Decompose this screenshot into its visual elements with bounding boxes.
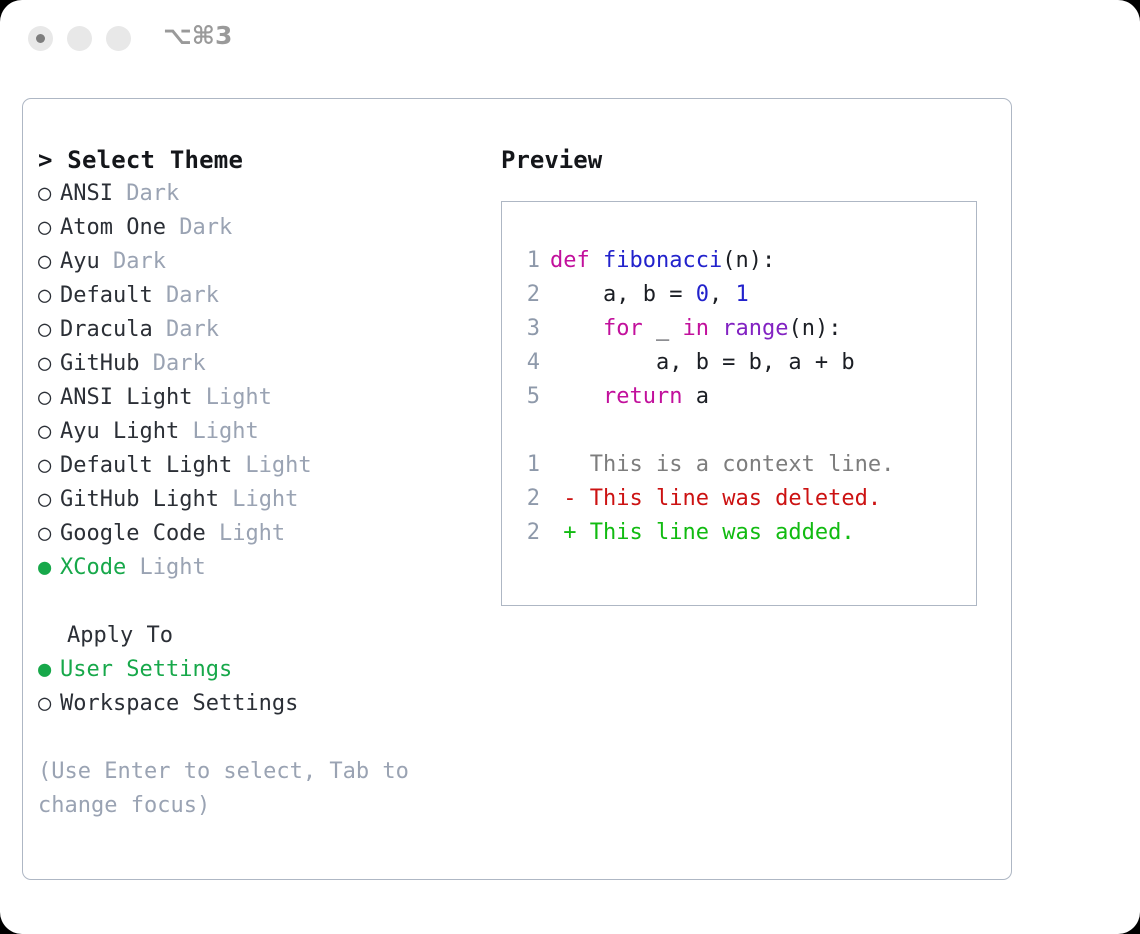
code-token: a xyxy=(682,384,709,409)
code-line: 3 for _ in range(n): xyxy=(516,312,894,346)
diff-marker: - xyxy=(550,486,590,511)
theme-option-label: Google Code xyxy=(60,517,206,551)
theme-option-label: Default Light xyxy=(60,449,232,483)
theme-variant-tag: Dark xyxy=(166,211,232,245)
diff-line-del: 2 - This line was deleted. xyxy=(516,482,894,516)
radio-unselected-icon: ○ xyxy=(38,211,60,245)
theme-variant-tag: Light xyxy=(126,551,205,585)
theme-option-github[interactable]: ○GitHub Dark xyxy=(38,347,488,381)
theme-option-label: GitHub Light xyxy=(60,483,219,517)
theme-option-label: Default xyxy=(60,279,153,313)
code-token xyxy=(550,316,603,341)
code-token: fibonacci xyxy=(603,248,722,273)
preview-column: Preview 1def fibonacci(n):2 a, b = 0, 13… xyxy=(501,143,991,606)
theme-variant-tag: Light xyxy=(232,449,311,483)
radio-unselected-icon: ○ xyxy=(38,279,60,313)
code-token: a, b = b, a + b xyxy=(550,350,855,375)
diff-marker: + xyxy=(550,520,590,545)
code-token xyxy=(550,384,603,409)
theme-variant-tag: Light xyxy=(219,483,298,517)
theme-variant-tag: Dark xyxy=(113,177,179,211)
line-number: 2 xyxy=(516,278,540,312)
radio-unselected-icon: ○ xyxy=(38,449,60,483)
line-number: 1 xyxy=(516,448,540,482)
theme-option-list: ○ANSI Dark○Atom One Dark○Ayu Dark○Defaul… xyxy=(38,177,488,585)
theme-option-label: Ayu Light xyxy=(60,415,179,449)
code-token: def xyxy=(550,248,603,273)
apply-to-option-label: Workspace Settings xyxy=(60,687,298,721)
maximize-window-dot-icon[interactable] xyxy=(106,26,131,51)
theme-option-github-light[interactable]: ○GitHub Light Light xyxy=(38,483,488,517)
code-token: 1 xyxy=(735,282,748,307)
radio-unselected-icon: ○ xyxy=(38,687,60,721)
diff-line-ctx: 1 This is a context line. xyxy=(516,448,894,482)
theme-variant-tag: Light xyxy=(192,381,271,415)
code-token: _ xyxy=(643,316,683,341)
apply-to-option-label: User Settings xyxy=(60,653,232,687)
preview-box: 1def fibonacci(n):2 a, b = 0, 13 for _ i… xyxy=(501,201,977,606)
keyboard-hint-text: (Use Enter to select, Tab to change focu… xyxy=(38,755,438,823)
code-token: , xyxy=(709,282,736,307)
theme-option-atom-one[interactable]: ○Atom One Dark xyxy=(38,211,488,245)
radio-unselected-icon: ○ xyxy=(38,415,60,449)
diff-text: This is a context line. xyxy=(590,452,895,477)
theme-variant-tag: Dark xyxy=(139,347,205,381)
diff-marker xyxy=(550,452,590,477)
radio-unselected-icon: ○ xyxy=(38,177,60,211)
code-preview: 1def fibonacci(n):2 a, b = 0, 13 for _ i… xyxy=(516,244,894,550)
theme-option-label: GitHub xyxy=(60,347,139,381)
theme-option-ayu-light[interactable]: ○Ayu Light Light xyxy=(38,415,488,449)
traffic-light-group xyxy=(28,26,131,51)
app-window: ⌥⌘3 > Select Theme ○ANSI Dark○Atom One D… xyxy=(0,0,1140,934)
code-token: return xyxy=(603,384,682,409)
radio-selected-icon: ● xyxy=(38,653,60,687)
theme-selection-column: > Select Theme ○ANSI Dark○Atom One Dark○… xyxy=(38,143,488,823)
theme-option-label: ANSI xyxy=(60,177,113,211)
code-token: a, b = xyxy=(550,282,696,307)
select-theme-heading: > Select Theme xyxy=(38,143,488,177)
code-token: in xyxy=(682,316,709,341)
radio-unselected-icon: ○ xyxy=(38,517,60,551)
radio-unselected-icon: ○ xyxy=(38,347,60,381)
preview-heading: Preview xyxy=(501,143,991,177)
theme-variant-tag: Light xyxy=(179,415,258,449)
theme-variant-tag: Dark xyxy=(153,279,219,313)
theme-option-label: Dracula xyxy=(60,313,153,347)
theme-option-dracula[interactable]: ○Dracula Dark xyxy=(38,313,488,347)
theme-variant-tag: Light xyxy=(206,517,285,551)
line-number: 4 xyxy=(516,346,540,380)
code-line: 5 return a xyxy=(516,380,894,414)
diff-text: This line was added. xyxy=(590,520,855,545)
code-token xyxy=(709,316,722,341)
code-token: (n): xyxy=(722,248,775,273)
line-number: 1 xyxy=(516,244,540,278)
radio-unselected-icon: ○ xyxy=(38,483,60,517)
keyboard-shortcut-label: ⌥⌘3 xyxy=(163,21,232,50)
title-bar: ⌥⌘3 xyxy=(0,0,1140,78)
close-window-dot-icon[interactable] xyxy=(28,26,53,51)
code-token: (n): xyxy=(788,316,841,341)
radio-unselected-icon: ○ xyxy=(38,245,60,279)
code-line: 1def fibonacci(n): xyxy=(516,244,894,278)
theme-option-label: Atom One xyxy=(60,211,166,245)
theme-option-label: Ayu xyxy=(60,245,100,279)
theme-option-google-code[interactable]: ○Google Code Light xyxy=(38,517,488,551)
theme-option-ansi[interactable]: ○ANSI Dark xyxy=(38,177,488,211)
main-panel: > Select Theme ○ANSI Dark○Atom One Dark○… xyxy=(22,98,1012,880)
radio-unselected-icon: ○ xyxy=(38,313,60,347)
theme-option-label: ANSI Light xyxy=(60,381,192,415)
diff-text: This line was deleted. xyxy=(590,486,881,511)
apply-to-option-user-settings[interactable]: ●User Settings xyxy=(38,653,488,687)
theme-option-label: XCode xyxy=(60,551,126,585)
theme-variant-tag: Dark xyxy=(100,245,166,279)
minimize-window-dot-icon[interactable] xyxy=(67,26,92,51)
code-line: 4 a, b = b, a + b xyxy=(516,346,894,380)
theme-option-default[interactable]: ○Default Dark xyxy=(38,279,488,313)
line-number: 5 xyxy=(516,380,540,414)
apply-to-heading: Apply To xyxy=(38,619,488,653)
radio-selected-icon: ● xyxy=(38,551,60,585)
theme-option-ansi-light[interactable]: ○ANSI Light Light xyxy=(38,381,488,415)
line-number: 2 xyxy=(516,516,540,550)
radio-unselected-icon: ○ xyxy=(38,381,60,415)
theme-variant-tag: Dark xyxy=(153,313,219,347)
code-token: 0 xyxy=(696,282,709,307)
code-line: 2 a, b = 0, 1 xyxy=(516,278,894,312)
section-spacer xyxy=(38,585,488,619)
theme-option-default-light[interactable]: ○Default Light Light xyxy=(38,449,488,483)
active-indicator-dot-icon xyxy=(36,34,45,43)
theme-option-ayu[interactable]: ○Ayu Dark xyxy=(38,245,488,279)
theme-option-xcode[interactable]: ●XCode Light xyxy=(38,551,488,585)
code-token: range xyxy=(722,316,788,341)
line-number: 2 xyxy=(516,482,540,516)
apply-to-option-workspace-settings[interactable]: ○Workspace Settings xyxy=(38,687,488,721)
code-blank-line xyxy=(516,414,894,448)
line-number: 3 xyxy=(516,312,540,346)
apply-to-option-list: ●User Settings○Workspace Settings xyxy=(38,653,488,721)
code-token: for xyxy=(603,316,643,341)
diff-line-add: 2 + This line was added. xyxy=(516,516,894,550)
